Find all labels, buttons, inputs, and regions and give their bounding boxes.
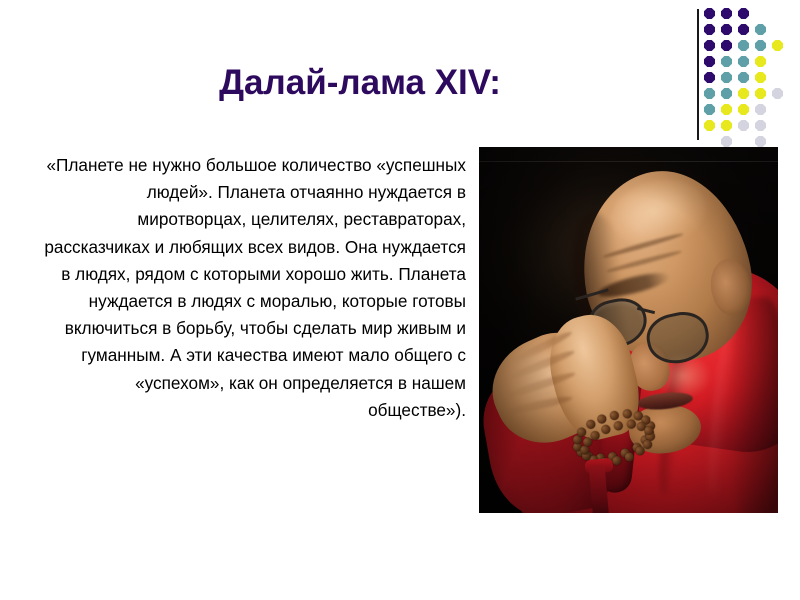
dot-teal [704,88,715,99]
dot-yellow [755,72,766,83]
bead [624,452,635,463]
dot-purple [721,24,732,35]
dot-yellow [721,104,732,115]
bead [621,409,632,420]
bead [589,430,600,441]
slide-canvas: Далай-лама XIV: «Планете не нужно большо… [0,0,800,600]
dot-teal [755,24,766,35]
bead [609,410,620,421]
bead [600,424,611,435]
dot-teal [738,40,749,51]
dot-purple [721,8,732,19]
vertical-rule [697,9,699,140]
dot-teal [721,88,732,99]
bead [626,419,637,430]
dot-purple [704,72,715,83]
dot-gray [755,136,766,147]
dot-teal [738,56,749,67]
dot-teal [721,72,732,83]
dot-grid-dots [704,8,800,140]
dot-gray [721,136,732,147]
dot-gray [755,104,766,115]
slide-title: Далай-лама XIV: [40,62,680,104]
dot-gray [738,120,749,131]
dot-purple [704,24,715,35]
bead [613,420,624,431]
bead [585,419,596,430]
bead [576,426,587,437]
dot-purple [738,8,749,19]
dot-yellow [738,104,749,115]
dot-yellow [755,56,766,67]
dot-purple [704,8,715,19]
dot-yellow [704,120,715,131]
dot-purple [738,24,749,35]
dot-teal [704,104,715,115]
dot-purple [704,40,715,51]
dot-yellow [738,88,749,99]
dot-purple [704,56,715,67]
decorative-dot-grid [694,4,800,140]
dot-teal [721,56,732,67]
dot-gray [755,120,766,131]
dot-yellow [755,88,766,99]
bead [596,413,607,424]
dot-yellow [772,40,783,51]
dot-teal [738,72,749,83]
dalai-lama-photo [479,147,778,513]
dot-purple [721,40,732,51]
dot-yellow [721,120,732,131]
quote-text: «Планете не нужно большое количество «ус… [44,152,466,424]
dot-teal [755,40,766,51]
dot-gray [772,88,783,99]
